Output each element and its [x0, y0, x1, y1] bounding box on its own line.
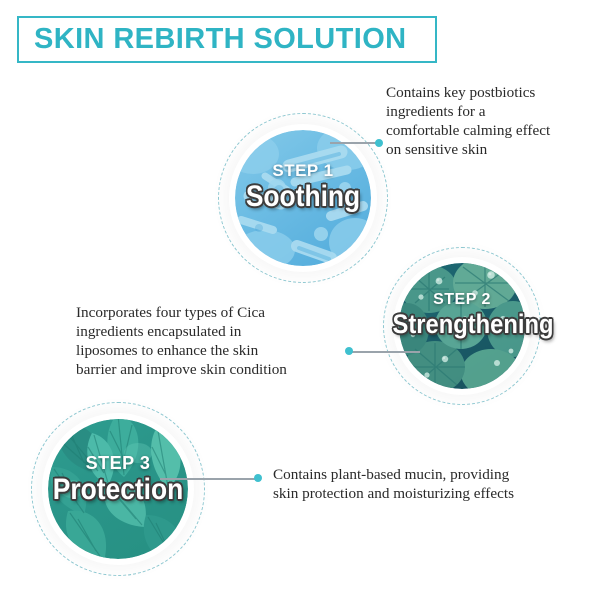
page-title: SKIN REBIRTH SOLUTION: [34, 25, 407, 54]
step-3-description-line: Contains plant-based mucin, providing: [273, 465, 589, 484]
step-1-group: STEP 1 Soothing: [218, 113, 388, 283]
step-3-description-line: skin protection and moisturizing effects: [273, 484, 589, 503]
step-2-group: STEP 2 Strengthening: [383, 247, 541, 405]
page-title-box: SKIN REBIRTH SOLUTION: [17, 16, 437, 63]
step-2-description-line: barrier and improve skin condition: [76, 360, 366, 379]
step-2-description-line: Incorporates four types of Cica: [76, 303, 366, 322]
step-1-description-line: Contains key postbiotics: [386, 83, 594, 102]
step-2-description-line: liposomes to enhance the skin: [76, 341, 366, 360]
step-3-connector-dot: [254, 474, 262, 482]
step-3-connector-line: [160, 478, 260, 480]
step-2-description-line: ingredients encapsulated in: [76, 322, 366, 341]
step-2-description: Incorporates four types of Cica ingredie…: [76, 303, 366, 380]
step-1-description: Contains key postbiotics ingredients for…: [386, 83, 594, 160]
step-3-group: STEP 3 Protection: [31, 402, 205, 576]
step-1-description-line: comfortable calming effect: [386, 121, 594, 140]
step-3-image: [48, 419, 188, 559]
step-1-description-line: on sensitive skin: [386, 140, 594, 159]
step-1-connector-line: [330, 142, 380, 144]
step-1-description-line: ingredients for a: [386, 102, 594, 121]
step-1-connector-dot: [375, 139, 383, 147]
infographic-canvas: SKIN REBIRTH SOLUTION: [0, 0, 600, 600]
step-1-image: [235, 130, 371, 266]
step-3-description: Contains plant-based mucin, providing sk…: [273, 465, 589, 503]
step-2-image: [399, 263, 525, 389]
